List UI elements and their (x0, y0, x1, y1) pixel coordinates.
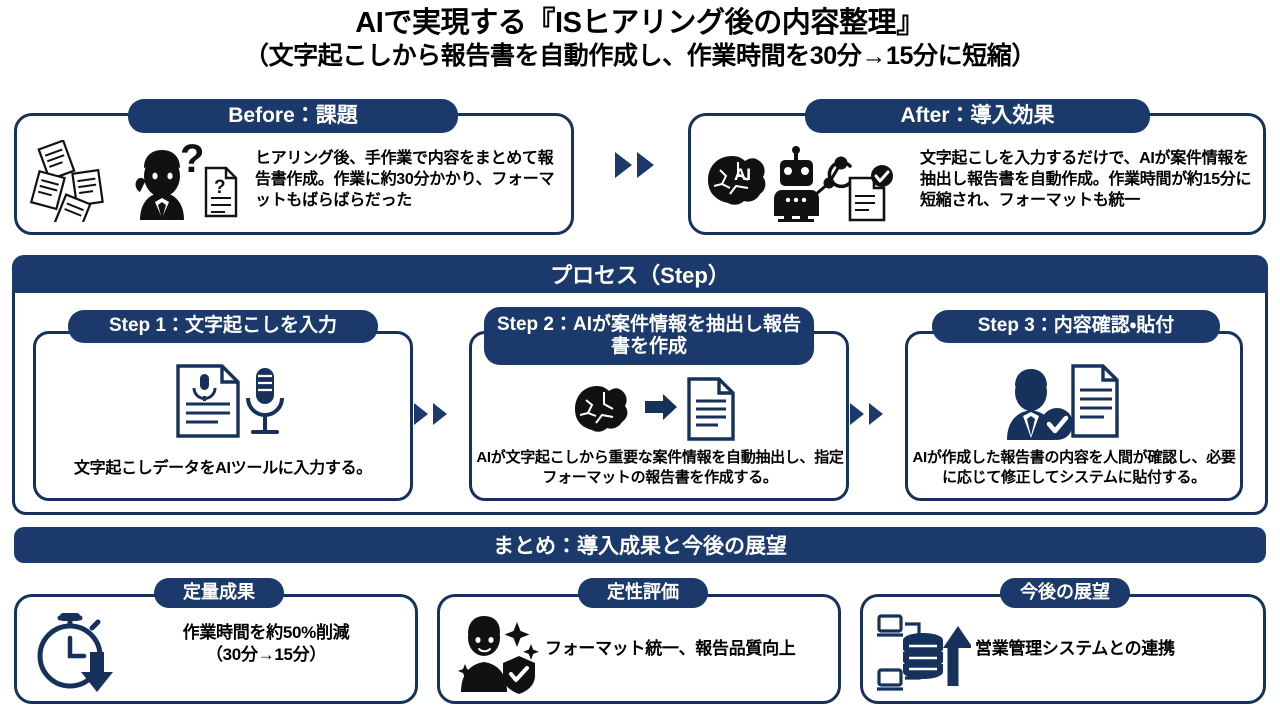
result-2-body-text: フォーマット統一、報告品質向上 (545, 638, 837, 660)
process-section-header: プロセス（Step） (12, 255, 1268, 293)
result-3-body-text: 営業管理システムとの連携 (975, 638, 1261, 660)
after-title-pill: After：導入効果 (805, 99, 1150, 133)
result-2-title-pill: 定性評価 (578, 578, 708, 608)
step-3-title-pill: Step 3：内容確認・貼付 (932, 310, 1220, 343)
step-1-title-pill: Step 1：文字起こしを入力 (68, 310, 378, 343)
result-1-title-pill: 定量成果 (154, 578, 284, 608)
before-title-pill: Before：課題 (128, 99, 458, 133)
chevron-before-after-icon (615, 152, 654, 178)
svg-text:AI: AI (734, 165, 751, 184)
svg-text:?: ? (214, 177, 226, 198)
person-review-document-icon (905, 362, 1243, 440)
title-subtitle: （文字起こしから報告書を自動作成し、作業時間を30分→15分に短縮） (0, 41, 1280, 72)
summary-section-header: まとめ：導入成果と今後の展望 (14, 527, 1266, 563)
step-1-body-text: 文字起こしデータをAIツールに入力する。 (40, 458, 406, 479)
title-main: AIで実現する『ISヒアリング後の内容整理』 (0, 6, 1280, 40)
before-illustration: ? ? (28, 140, 240, 222)
chevron-step2-step3-icon (850, 403, 883, 425)
before-body-text: ヒアリング後、手作業で内容をまとめて報告書作成。作業に約30分かかり、フォーマッ… (255, 148, 565, 211)
after-illustration: AI (700, 140, 912, 222)
svg-text:?: ? (180, 140, 204, 181)
after-body-text: 文字起こしを入力するだけで、AIが案件情報を抽出し報告書を自動作成。作業時間が約… (920, 148, 1258, 211)
step-2-title-pill: Step 2：AIが案件情報を抽出し報告書を作成 (484, 307, 814, 365)
person-sparkle-shield-icon (455, 608, 547, 694)
step-2-body-text: AIが文字起こしから重要な案件情報を自動抽出し、指定フォーマットの報告書を作成す… (474, 448, 846, 488)
step-3-body-text: AIが作成した報告書の内容を人間が確認し、必要に応じて修正してシステムに貼付する… (908, 448, 1240, 488)
result-1-body-text: 作業時間を約50%削減 （30分→15分） (126, 622, 406, 667)
chevron-step1-step2-icon (414, 403, 447, 425)
stopwatch-down-arrow-icon (30, 608, 122, 694)
transcript-microphone-icon (33, 360, 413, 440)
page-title: AIで実現する『ISヒアリング後の内容整理』 （文字起こしから報告書を自動作成し… (0, 6, 1280, 72)
database-integration-icon (875, 608, 971, 694)
result-3-title-pill: 今後の展望 (1000, 578, 1130, 608)
ai-to-document-icon (469, 375, 849, 441)
